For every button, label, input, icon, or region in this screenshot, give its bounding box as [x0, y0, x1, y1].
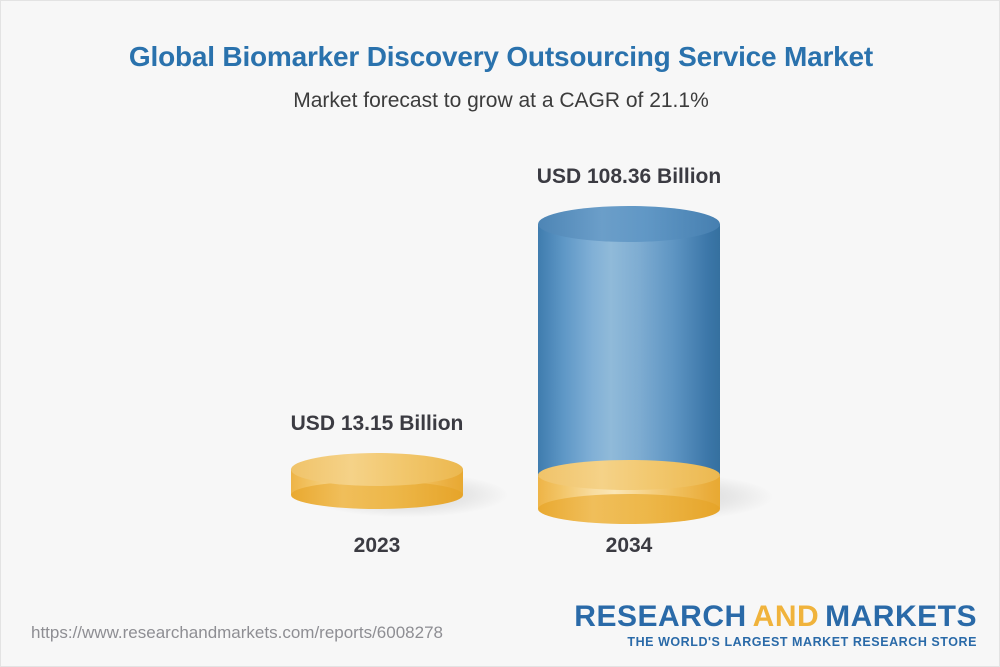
logo-and-text: AND — [753, 600, 820, 633]
infographic-canvas: Global Biomarker Discovery Outsourcing S… — [0, 0, 1000, 667]
bar-2034 — [538, 206, 720, 509]
value-label-2023: USD 13.15 Billion — [177, 412, 577, 436]
bar-2034-base-bottom-ellipse — [538, 494, 720, 524]
chart-plot-area: USD 108.36 Billion 2034 USD 13.15 Billio… — [1, 1, 1000, 601]
logo-wordmark: RESEARCHANDMARKETS — [574, 601, 977, 633]
logo-research-text: RESEARCH — [574, 600, 746, 633]
category-label-2023: 2023 — [277, 534, 477, 558]
bar-2034-base-top-ellipse — [538, 460, 720, 490]
category-label-2034: 2034 — [529, 534, 729, 558]
bar-2023-top-ellipse — [291, 453, 463, 486]
report-url[interactable]: https://www.researchandmarkets.com/repor… — [31, 623, 443, 643]
value-label-2034: USD 108.36 Billion — [429, 165, 829, 189]
researchandmarkets-logo[interactable]: RESEARCHANDMARKETS THE WORLD'S LARGEST M… — [574, 601, 977, 649]
bar-2034-body — [538, 224, 720, 476]
logo-tagline: THE WORLD'S LARGEST MARKET RESEARCH STOR… — [574, 635, 977, 649]
bar-2034-top-ellipse — [538, 206, 720, 242]
logo-markets-text: MARKETS — [825, 600, 977, 633]
bar-2023 — [291, 453, 463, 509]
